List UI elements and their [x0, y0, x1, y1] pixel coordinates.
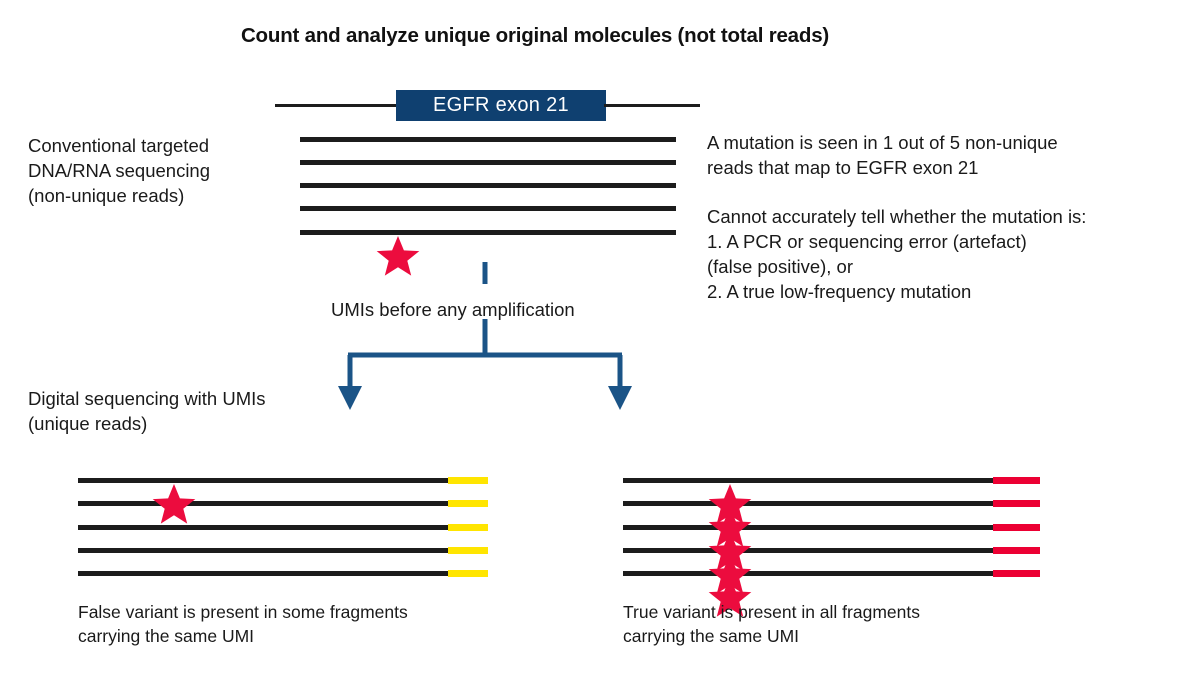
explanation-heading: Cannot accurately tell whether the mutat… — [707, 204, 1187, 229]
conventional-fragment-2 — [300, 160, 676, 165]
left-umi-tag-2 — [448, 500, 488, 507]
umi-flow-connector — [330, 262, 640, 412]
conventional-fragment-5 — [300, 230, 676, 235]
right-fragment-1 — [623, 478, 995, 483]
right-fragment-4 — [623, 548, 995, 553]
right-umi-tag-2 — [993, 500, 1040, 507]
conventional-fragment-3 — [300, 183, 676, 188]
page-title: Count and analyze unique original molecu… — [0, 24, 1070, 48]
right-umi-tag-4 — [993, 547, 1040, 554]
diagram-canvas: Count and analyze unique original molecu… — [0, 0, 1200, 675]
right-umi-tag-1 — [993, 477, 1040, 484]
explanation-item-1: 1. A PCR or sequencing error (artefact) … — [707, 229, 1177, 279]
left-fragment-1 — [78, 478, 450, 483]
gene-line-left — [275, 104, 399, 107]
gene-line-right — [604, 104, 700, 107]
conventional-sequencing-label: Conventional targeted DNA/RNA sequencing… — [28, 133, 288, 208]
left-umi-tag-3 — [448, 524, 488, 531]
right-fragment-2 — [623, 501, 995, 506]
right-umi-tag-5 — [993, 570, 1040, 577]
left-fragment-3 — [78, 525, 450, 530]
right-group-caption: True variant is present in all fragments… — [623, 600, 1083, 648]
conventional-fragment-4 — [300, 206, 676, 211]
right-fragment-3 — [623, 525, 995, 530]
connector-label-umis-before-amplification: UMIs before any amplification — [331, 299, 575, 321]
left-group-caption: False variant is present in some fragmen… — [78, 600, 538, 648]
conventional-fragment-1 — [300, 137, 676, 142]
left-fragment-4 — [78, 548, 450, 553]
digital-sequencing-label: Digital sequencing with UMIs (unique rea… — [28, 386, 308, 436]
right-fragment-5 — [623, 571, 995, 576]
right-umi-tag-3 — [993, 524, 1040, 531]
explanation-item-2: 2. A true low-frequency mutation — [707, 279, 1177, 304]
explanation-paragraph-1: A mutation is seen in 1 out of 5 non-uni… — [707, 130, 1177, 180]
left-fragment-2 — [78, 501, 450, 506]
left-umi-tag-5 — [448, 570, 488, 577]
left-fragment-5 — [78, 571, 450, 576]
gene-box-egfr-exon-21: EGFR exon 21 — [396, 90, 606, 121]
left-umi-tag-4 — [448, 547, 488, 554]
left-umi-tag-1 — [448, 477, 488, 484]
